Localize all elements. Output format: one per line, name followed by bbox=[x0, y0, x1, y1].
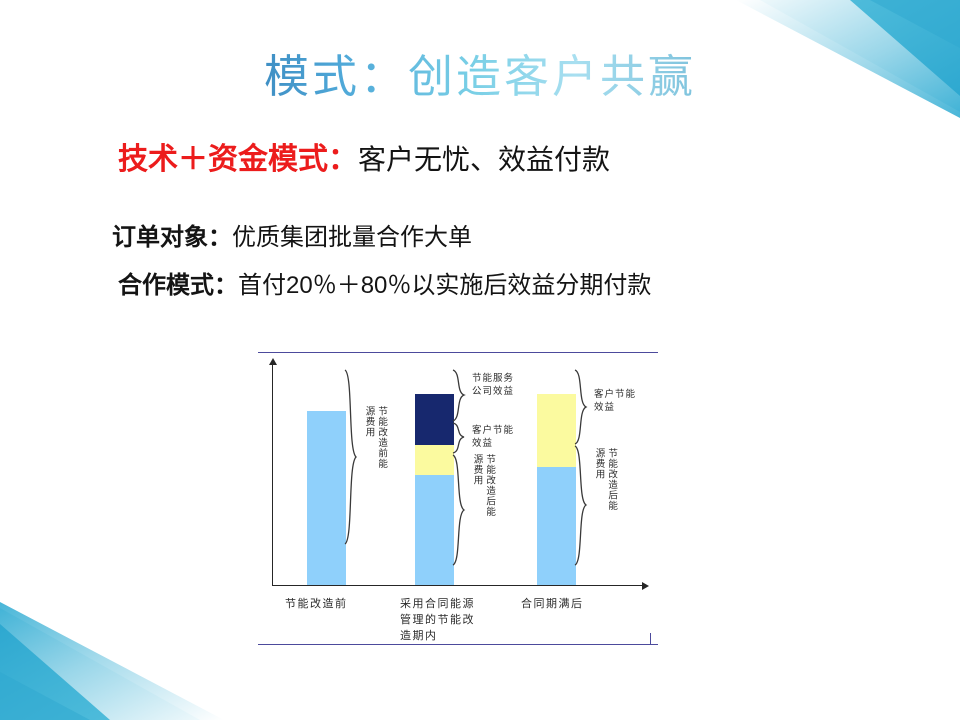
slide-canvas: 模式：创造客户共赢 技术＋资金模式：客户无忧、效益付款 订单对象：优质集团批量合… bbox=[0, 0, 960, 720]
annotation-bar3-customer-benefit: 客户节能 效益 bbox=[594, 388, 650, 415]
headline-row: 技术＋资金模式：客户无忧、效益付款 bbox=[118, 142, 610, 178]
bar-segment-yellow-2 bbox=[415, 445, 454, 475]
chart-bottom-rule-tail bbox=[650, 633, 651, 645]
bullet-cooperation-mode-label: 合作模式： bbox=[118, 272, 238, 299]
energy-saving-chart: 节能改造前能 源费用 节能服务 公司效益 客户节能 效益 节能改造后能 源费用 … bbox=[258, 348, 658, 648]
brace-icon-bar3-blue bbox=[574, 445, 588, 566]
headline-rest: 客户无忧、效益付款 bbox=[358, 144, 610, 175]
bar-column-3 bbox=[537, 394, 576, 585]
bullet-order-target: 订单对象：优质集团批量合作大单 bbox=[112, 224, 472, 253]
brace-icon-bar2-yellow bbox=[452, 422, 466, 454]
bar-segment-blue-2 bbox=[415, 475, 454, 585]
headline-emphasis: 技术＋资金模式： bbox=[118, 143, 358, 176]
brace-icon-bar1 bbox=[344, 369, 358, 545]
annotation-bar2-esco-benefit: 节能服务 公司效益 bbox=[472, 372, 540, 399]
brace-icon-bar3-yellow bbox=[574, 369, 588, 445]
page-title: 模式：创造客户共赢 bbox=[0, 52, 960, 102]
bullet-cooperation-mode-text: 首付20％＋80％以实施后效益分期付款 bbox=[238, 272, 651, 299]
bullet-order-target-text: 优质集团批量合作大单 bbox=[232, 224, 472, 251]
annotation-bar2-energy-cost-after: 节能改造后能 源费用 bbox=[470, 454, 495, 574]
brace-icon-bar2-blue bbox=[452, 454, 466, 566]
page-title-text: 模式：创造客户共赢 bbox=[264, 52, 696, 102]
chart-top-rule bbox=[258, 352, 658, 353]
annotation-bar3-energy-cost-after: 节能改造后能 源费用 bbox=[592, 448, 617, 568]
x-axis-label-2: 采用合同能源 管理的节能改 造期内 bbox=[400, 596, 498, 644]
bar-segment-yellow-3 bbox=[537, 394, 576, 467]
bullet-order-target-label: 订单对象： bbox=[112, 224, 232, 251]
brace-icon-bar2-navy bbox=[452, 369, 466, 422]
chart-bottom-rule bbox=[258, 644, 658, 645]
annotation-bar1-energy-cost-before: 节能改造前能 源费用 bbox=[362, 406, 387, 526]
decor-bottom-left-icon bbox=[0, 570, 260, 720]
bar-column-2 bbox=[415, 394, 454, 585]
bar-column-1 bbox=[307, 411, 346, 585]
annotation-bar2-customer-benefit: 客户节能 效益 bbox=[472, 424, 528, 451]
bar-segment-blue-1 bbox=[307, 411, 346, 585]
bar-segment-blue-3 bbox=[537, 467, 576, 585]
chart-x-axis bbox=[272, 585, 642, 586]
x-axis-label-3: 合同期满后 bbox=[521, 596, 617, 612]
x-axis-label-1: 节能改造前 bbox=[285, 596, 381, 612]
bar-segment-navy-2 bbox=[415, 394, 454, 445]
chart-y-axis bbox=[272, 364, 273, 586]
bullet-cooperation-mode: 合作模式：首付20％＋80％以实施后效益分期付款 bbox=[118, 272, 651, 301]
